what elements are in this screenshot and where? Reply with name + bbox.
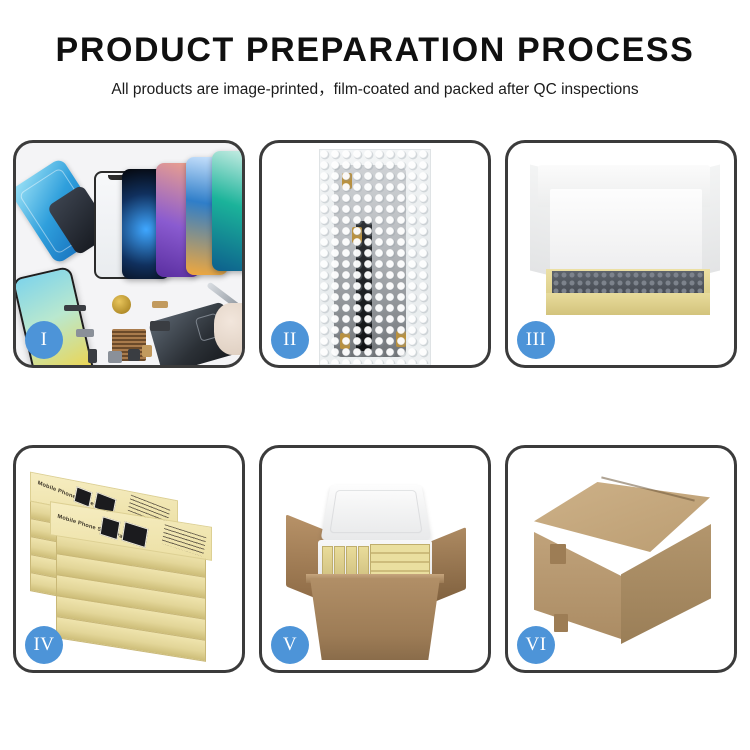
retail-box-window-front-2 — [122, 521, 149, 548]
part-vibrator-icon — [128, 349, 140, 361]
part-connector-icon — [150, 321, 170, 331]
step-panel-6[interactable]: VI Sealed outer shipping carton ready fo… — [505, 445, 737, 673]
kraft-tray-front-icon — [546, 293, 710, 315]
step-panel-3[interactable]: III Parts placed in kraft box with prote… — [505, 140, 737, 368]
carton-left-face-icon — [534, 532, 624, 640]
step-badge-1: I — [25, 321, 63, 359]
bubble-texture-overlay — [319, 149, 429, 364]
part-button-icon — [88, 349, 97, 363]
retail-box-text-lines-front — [162, 524, 207, 556]
step-panel-4[interactable]: Mobile Phone Spare Parts Mobile Phone Sp… — [13, 445, 245, 673]
retail-box-window-back-1 — [74, 486, 93, 507]
carton-tape-lower-icon — [554, 614, 568, 632]
carton-tape-upper-icon — [550, 544, 566, 564]
carton-body-icon — [310, 578, 440, 660]
step-panel-2[interactable]: II Single part sealed in bubble wrap bag — [259, 140, 491, 368]
part-strip-icon — [64, 305, 86, 311]
step-badge-2: II — [271, 321, 309, 359]
foam-box-lid-icon — [320, 485, 431, 541]
step-badge-4: IV — [25, 626, 63, 664]
retail-box-window-front-1 — [100, 516, 121, 540]
packed-parts-icon — [552, 271, 704, 295]
phone-display-d-icon — [212, 151, 242, 271]
process-steps-grid: I Mobile phone screens and spare parts l… — [13, 140, 737, 673]
page-subtitle: All products are image-printed，film-coat… — [0, 79, 750, 101]
foam-sheet-icon — [550, 189, 702, 277]
step-badge-6: VI — [517, 626, 555, 664]
step-badge-3: III — [517, 321, 555, 359]
step-panel-5[interactable]: V Boxes loaded into foam-lined shipping … — [259, 445, 491, 673]
technician-hand-icon — [214, 303, 242, 355]
step-panel-1[interactable]: I Mobile phone screens and spare parts l… — [13, 140, 245, 368]
page-header: PRODUCT PREPARATION PROCESS All products… — [0, 0, 750, 101]
part-bracket-icon — [76, 329, 94, 337]
part-sim-tray-icon — [142, 345, 152, 357]
speaker-coil-icon — [112, 295, 131, 314]
page-title: PRODUCT PREPARATION PROCESS — [0, 30, 750, 70]
step-badge-5: V — [271, 626, 309, 664]
part-camera-icon — [108, 351, 122, 363]
part-flex-cable-icon — [152, 301, 168, 308]
